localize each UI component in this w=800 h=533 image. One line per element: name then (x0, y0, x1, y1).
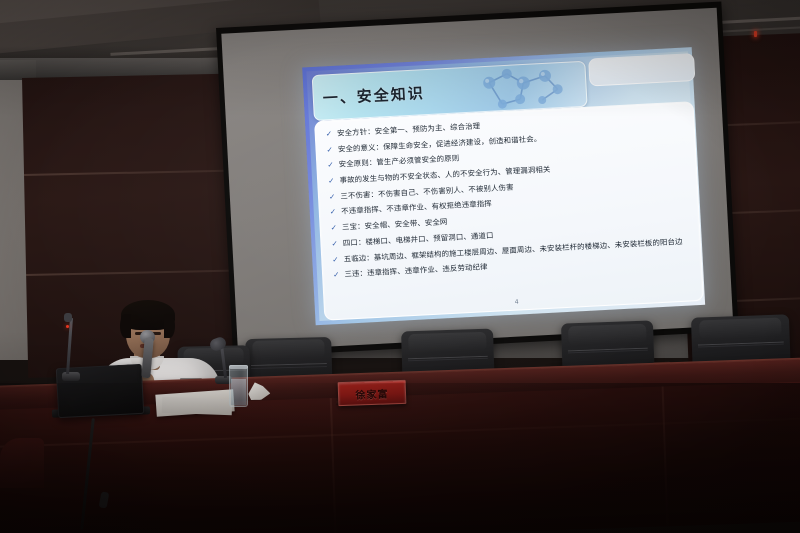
chair-highlight (568, 323, 646, 345)
paper-documents (162, 397, 233, 415)
check-icon: ✓ (330, 222, 337, 234)
slide-topbar-right (588, 53, 695, 87)
molecule-icon (460, 61, 582, 114)
nameplate: 徐家富 (338, 380, 407, 406)
slide-body: ✓安全方针：安全第一、预防为主、综合治理 ✓安全的意义：保障生命安全，促进经济建… (314, 101, 704, 321)
projected-slide: 一、安全知识 ✓安全方针：安全第一、预防为主、综合治理 ✓安全的意义：保障生命安… (302, 47, 705, 325)
microphone-led-icon (66, 325, 69, 328)
slide-page-number: 4 (515, 299, 519, 306)
chair-highlight (699, 317, 782, 339)
chair-highlight (408, 331, 486, 353)
table-seam (662, 386, 668, 526)
water-glass (229, 365, 248, 407)
nameplate-text: 徐家富 (355, 385, 389, 401)
check-icon: ✓ (332, 253, 339, 265)
table-seam (0, 417, 800, 447)
check-icon: ✓ (328, 175, 335, 187)
check-icon: ✓ (326, 144, 333, 156)
gooseneck-microphone-base (62, 372, 80, 381)
check-icon: ✓ (331, 238, 338, 250)
check-icon: ✓ (327, 159, 334, 171)
slide-title: 一、安全知识 (322, 82, 425, 108)
hair-side-left (120, 314, 131, 338)
check-icon: ✓ (325, 128, 332, 140)
table-seam (330, 398, 336, 533)
check-icon: ✓ (330, 206, 337, 218)
red-led-indicator-icon (754, 31, 757, 37)
chair-highlight (252, 340, 325, 360)
glass-rim (229, 365, 248, 369)
conference-room-photo: 一、安全知识 ✓安全方针：安全第一、预防为主、综合治理 ✓安全的意义：保障生命安… (0, 0, 800, 533)
projection-screen: 一、安全知识 ✓安全方针：安全第一、预防为主、综合治理 ✓安全的意义：保障生命安… (216, 2, 739, 358)
chair-partial-left (0, 438, 44, 488)
check-icon: ✓ (333, 269, 340, 281)
slide-inner: 一、安全知识 ✓安全方针：安全第一、预防为主、综合治理 ✓安全的意义：保障生命安… (306, 51, 701, 321)
gooseneck-microphone-head (64, 313, 72, 322)
water (231, 379, 246, 405)
hair-side-right (164, 314, 175, 338)
check-icon: ✓ (329, 191, 336, 203)
